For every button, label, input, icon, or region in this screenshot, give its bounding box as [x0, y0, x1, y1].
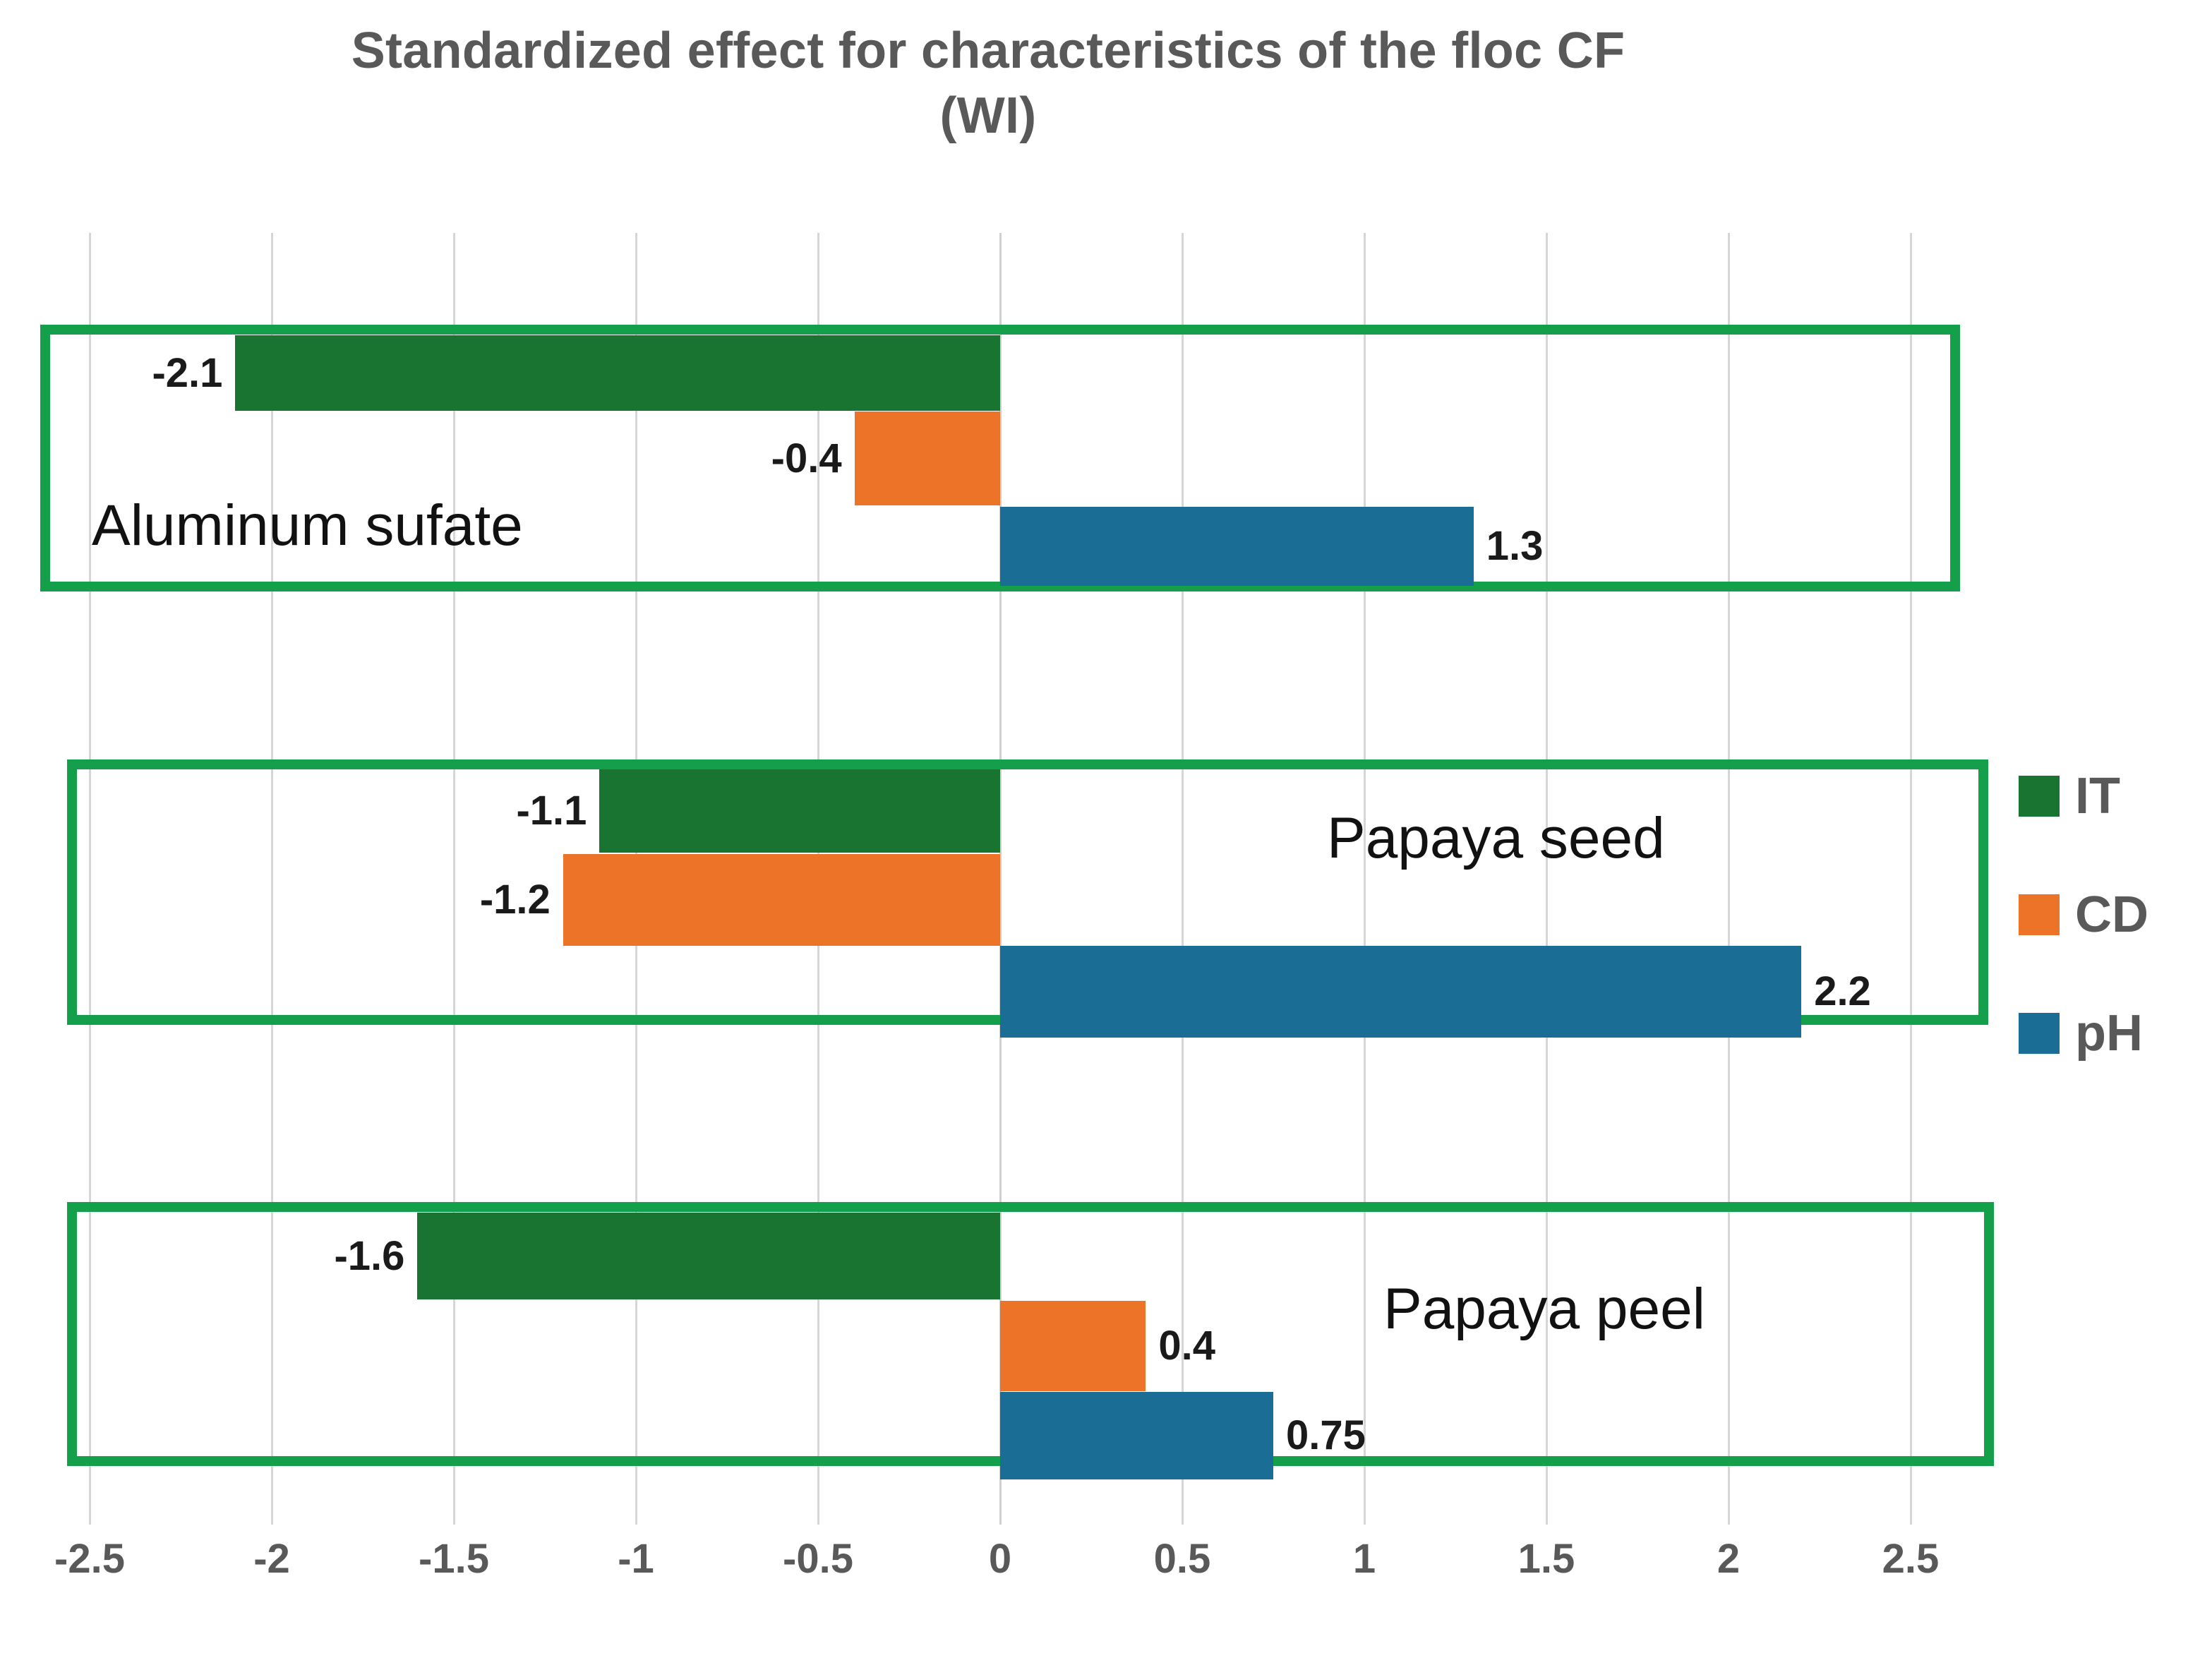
x-axis: -2.5-2-1.5-1-0.500.511.522.5 — [0, 1539, 2212, 1602]
value-label-it-2: -1.6 — [334, 1236, 404, 1277]
value-label-cd-1: -1.2 — [480, 879, 551, 920]
gridline-2 — [1728, 233, 1730, 1525]
x-tick-label-2: -1.5 — [419, 1539, 489, 1580]
x-tick-label-3: -1 — [618, 1539, 654, 1580]
chart-root: Standardized effect for characteristics … — [0, 0, 2212, 1670]
legend-item-it[interactable]: IT — [2019, 776, 2202, 816]
legend-item-ph[interactable]: pH — [2019, 1014, 2202, 1053]
bar-ph-1 — [1000, 946, 1801, 1038]
value-label-ph-0: 1.3 — [1486, 526, 1544, 567]
x-tick-label-1: -2 — [253, 1539, 290, 1580]
legend-swatch-ph — [2019, 1013, 2060, 1054]
x-tick-label-0: -2.5 — [54, 1539, 125, 1580]
value-label-cd-2: 0.4 — [1158, 1326, 1215, 1366]
group-label-1: Papaya seed — [1327, 810, 1665, 867]
legend-label-ph: pH — [2075, 1008, 2143, 1059]
x-tick-label-9: 2 — [1717, 1539, 1740, 1580]
value-label-ph-2: 0.75 — [1286, 1415, 1366, 1456]
chart-title-line-2: (WI) — [0, 83, 1976, 148]
x-tick-label-10: 2.5 — [1882, 1539, 1940, 1580]
value-label-cd-0: -0.4 — [771, 438, 842, 479]
bar-cd-0 — [855, 412, 1000, 505]
bar-ph-2 — [1000, 1392, 1273, 1479]
bar-ph-0 — [1000, 507, 1474, 586]
legend-swatch-cd — [2019, 894, 2060, 935]
bar-it-1 — [599, 769, 1000, 853]
gridline-neg1p5 — [453, 233, 455, 1525]
gridline-1 — [1364, 233, 1366, 1525]
legend-label-cd: CD — [2075, 889, 2148, 940]
x-tick-label-6: 0.5 — [1154, 1539, 1211, 1580]
bar-it-2 — [417, 1213, 1000, 1299]
legend: ITCDpH — [2019, 776, 2202, 1132]
group-label-0: Aluminum sufate — [92, 497, 523, 555]
chart-title-line-1: Standardized effect for characteristics … — [0, 18, 1976, 83]
x-tick-label-8: 1.5 — [1518, 1539, 1575, 1580]
x-tick-label-7: 1 — [1353, 1539, 1376, 1580]
gridline-neg2 — [271, 233, 273, 1525]
value-label-it-1: -1.1 — [516, 791, 587, 831]
bar-it-0 — [235, 335, 1000, 411]
x-tick-label-4: -0.5 — [783, 1539, 853, 1580]
bar-cd-2 — [1000, 1301, 1146, 1391]
legend-item-cd[interactable]: CD — [2019, 895, 2202, 935]
legend-label-it: IT — [2075, 771, 2120, 822]
legend-swatch-it — [2019, 776, 2060, 817]
gridline-neg2p5 — [89, 233, 91, 1525]
bar-cd-1 — [563, 854, 1000, 946]
chart-title: Standardized effect for characteristics … — [0, 18, 1976, 148]
value-label-ph-1: 2.2 — [1814, 971, 1871, 1012]
plot-area: -2.1-0.41.3Aluminum sufate-1.1-1.22.2Pap… — [0, 233, 2212, 1525]
group-label-2: Papaya peel — [1383, 1280, 1705, 1338]
value-label-it-0: -2.1 — [152, 353, 222, 394]
gridline-2p5 — [1910, 233, 1912, 1525]
x-tick-label-5: 0 — [989, 1539, 1011, 1580]
